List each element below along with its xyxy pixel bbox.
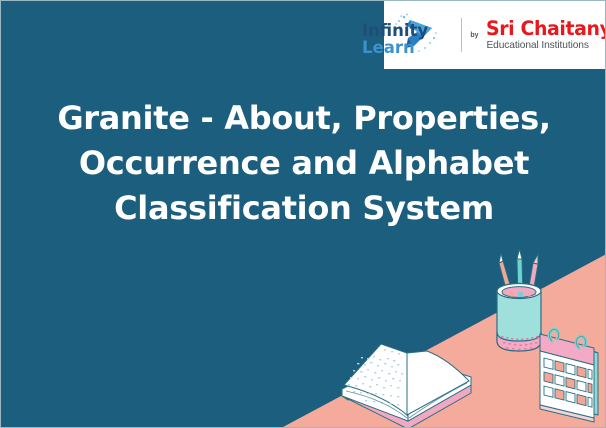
sri-chaitanya-logo[interactable]: Sri Chaitanya Educational Institutions — [486, 19, 606, 51]
infinity-learn-logo[interactable]: Infinity Learn — [362, 12, 454, 58]
logo-by-label: by — [470, 32, 478, 39]
sri-chaitanya-tagline: Educational Institutions — [486, 41, 606, 51]
article-banner: Infinity Learn by Sri Chaitanya Educatio… — [0, 0, 606, 428]
brand-logo-box[interactable]: Infinity Learn by Sri Chaitanya Educatio… — [384, 1, 606, 69]
sri-chaitanya-name: Sri Chaitanya — [486, 19, 606, 39]
logo-divider — [461, 18, 462, 52]
learn-wordmark: Learn — [362, 38, 415, 57]
page-title: Granite - About, Properties, Occurrence … — [1, 96, 606, 231]
infinity-learn-mark: Infinity Learn — [362, 12, 454, 58]
